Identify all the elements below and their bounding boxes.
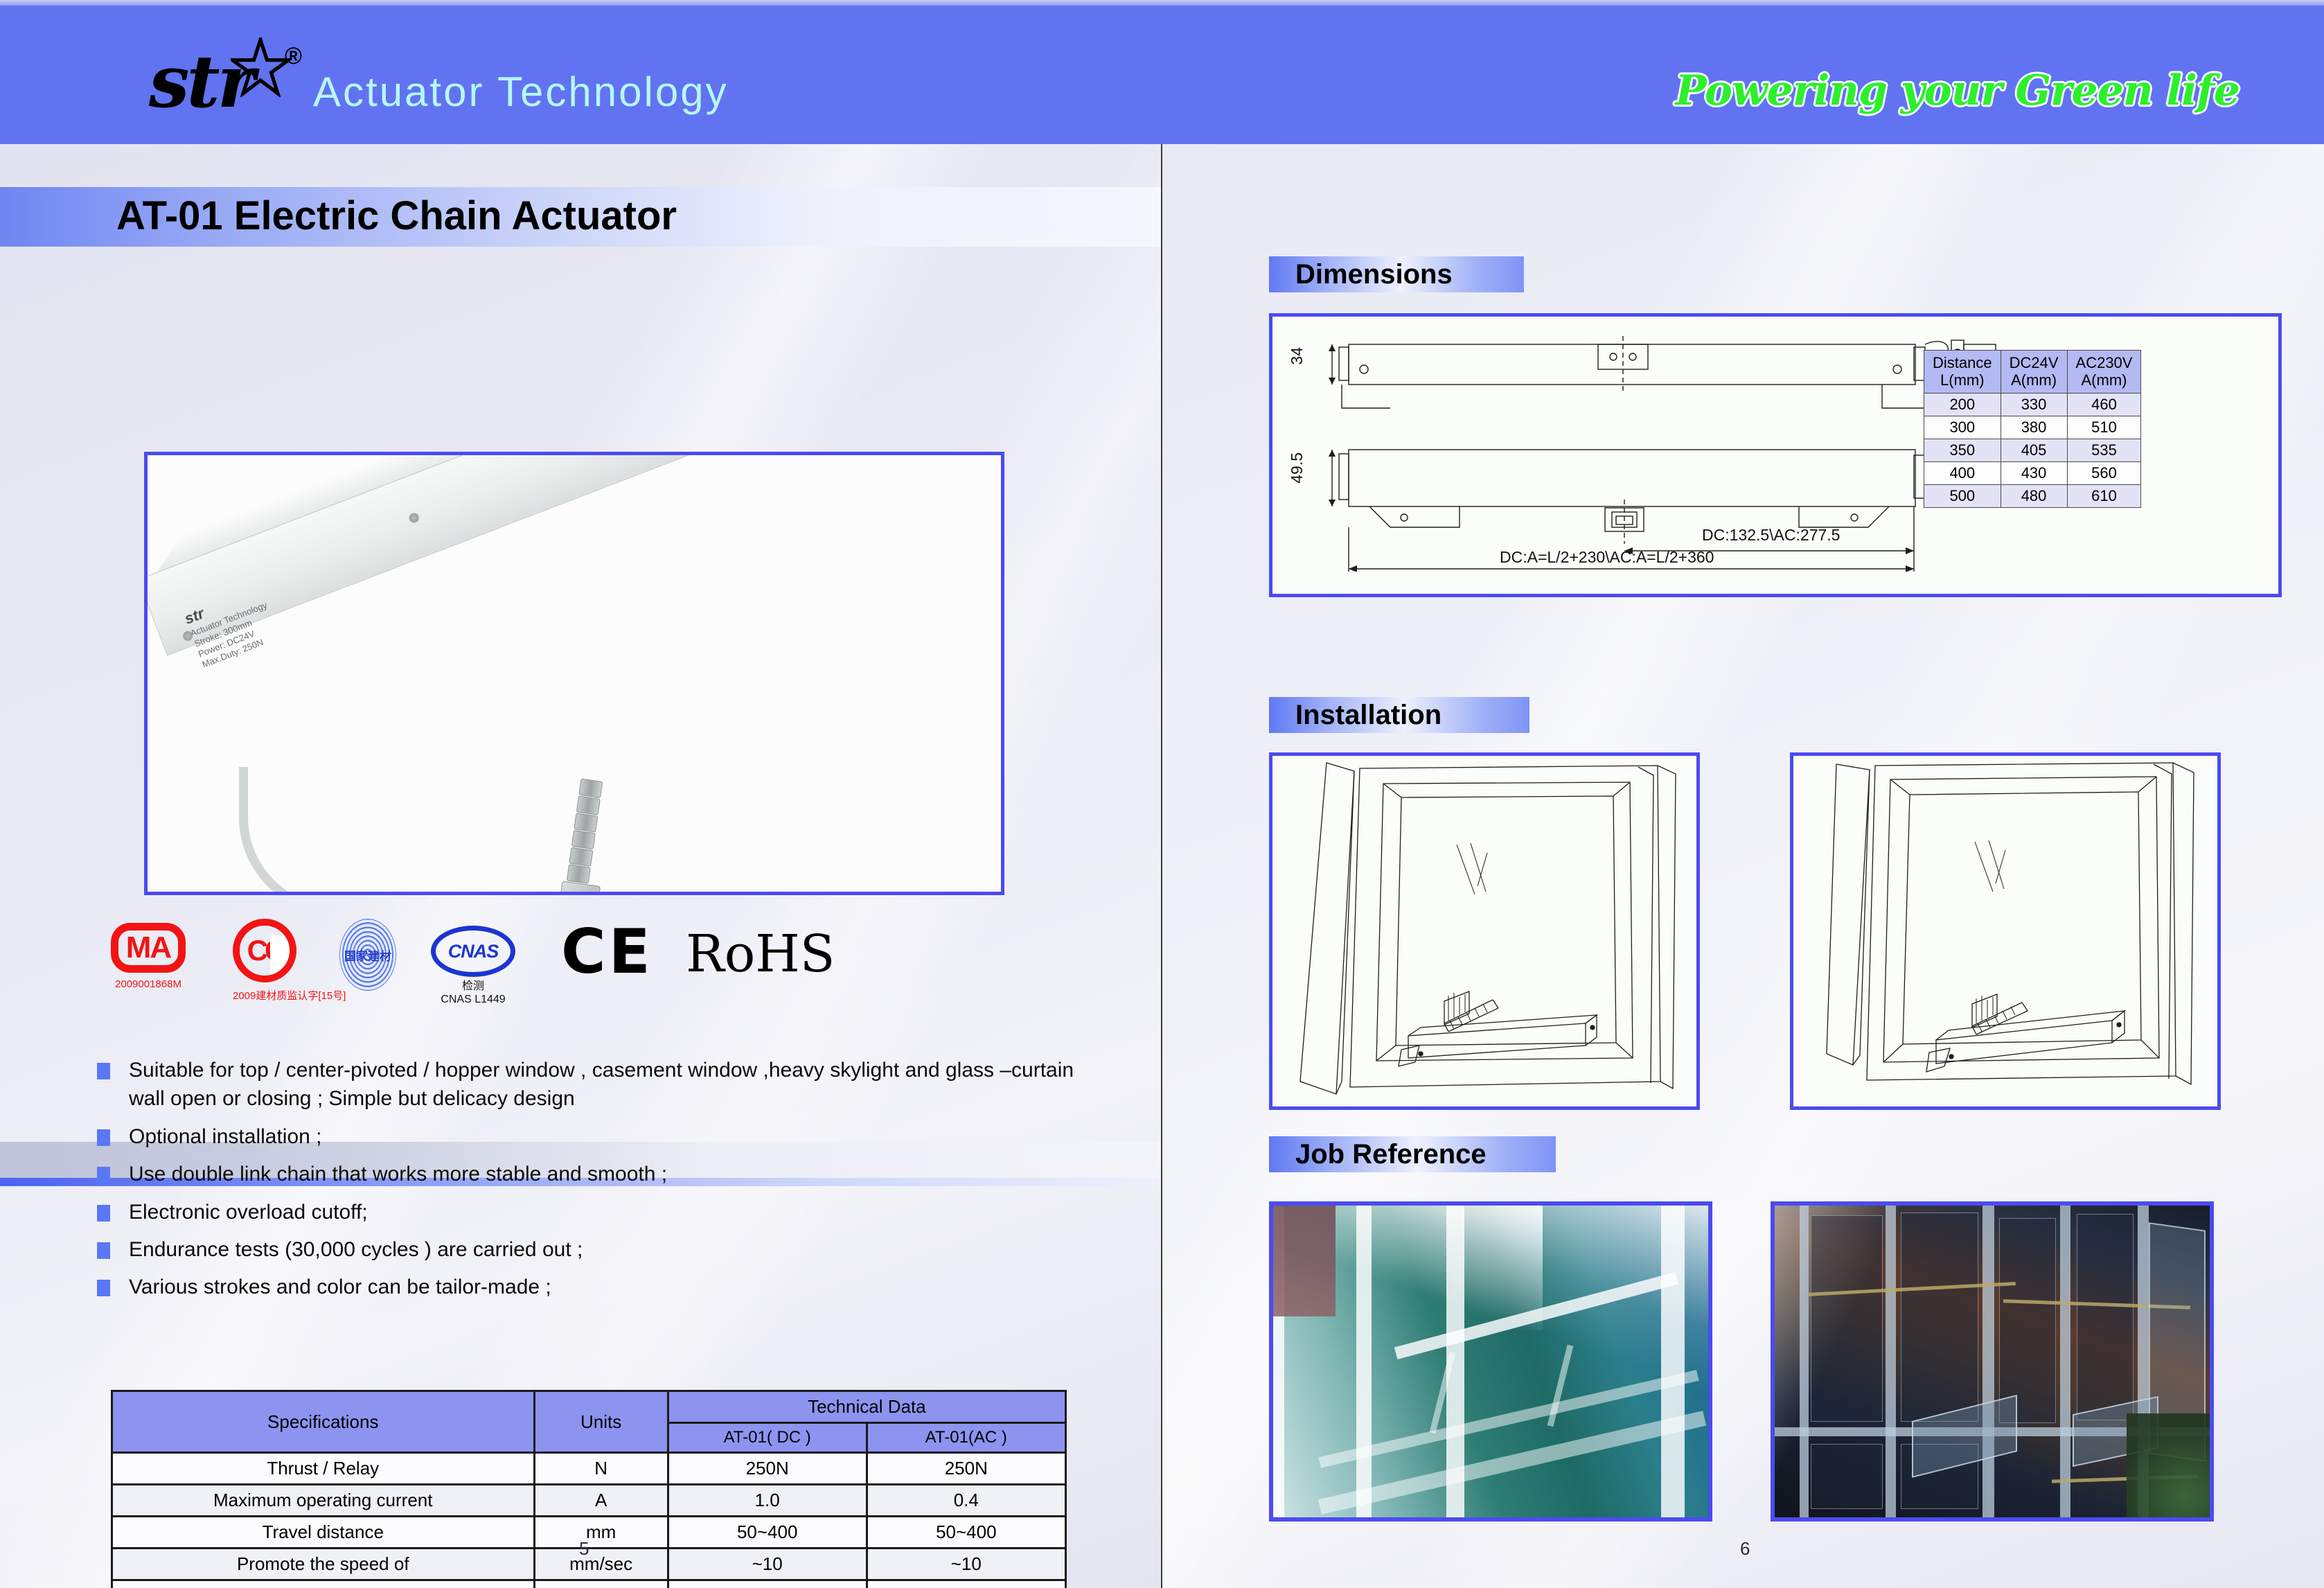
feature-list: Suitable for top / center-pivoted / hopp… xyxy=(97,1056,1081,1311)
page-spine xyxy=(1161,144,1162,1588)
table-row: 400 430 560 xyxy=(1924,461,2141,484)
header-tagline: Powering your Green life xyxy=(1675,67,2239,115)
chain-bracket xyxy=(558,881,601,895)
actuator-front-face: str Actuator Technology Stroke: 300mm Po… xyxy=(144,452,750,655)
column-header-dc24v: DC24V A(mm) xyxy=(2001,351,2067,394)
installation-diagram-left xyxy=(1269,752,1700,1110)
dimension-label-height-bottom: 49.5 xyxy=(1288,452,1306,484)
list-item: Various strokes and color can be tailor-… xyxy=(97,1273,1081,1301)
list-item: Endurance tests (30,000 cycles ) are car… xyxy=(97,1235,1081,1264)
ma-certification-icon: MA 2009001868M xyxy=(111,923,186,990)
registered-mark-icon: ® xyxy=(285,43,302,70)
header-subtitle: Actuator Technology xyxy=(313,68,729,116)
page-number-right: 6 xyxy=(1740,1538,1750,1560)
column-header-technical-data: Technical Data xyxy=(668,1391,1065,1423)
ce-certification-icon: CE xyxy=(561,921,653,982)
table-row: 500 480 610 xyxy=(1924,484,2141,507)
cnas-certification-icon: CNAS 检测 CNAS L1449 xyxy=(431,926,515,1006)
dimension-label-center: DC:132.5\AC:277.5 xyxy=(1702,526,1840,545)
table-row: Thrust / Relay N 250N 250N xyxy=(112,1453,1066,1485)
bullet-icon xyxy=(97,1242,110,1259)
screw-icon xyxy=(408,511,420,524)
rohs-certification-icon: RoHS xyxy=(686,928,835,980)
ccc-certification-icon: CC 2009建材质监认字[15号] xyxy=(233,919,346,1003)
bullet-icon xyxy=(97,1167,110,1183)
page-title: AT-01 Electric Chain Actuator xyxy=(116,193,677,239)
section-header-dimensions: Dimensions xyxy=(1269,256,1524,292)
window-installation-drawing xyxy=(1272,756,1689,1100)
bullet-icon xyxy=(97,1129,110,1146)
page-header: str ® Actuator Technology Powering your … xyxy=(0,0,2324,144)
column-header-specifications: Specifications xyxy=(112,1391,535,1453)
dimension-table: Distance L(mm) DC24V A(mm) AC230V A(mm) … xyxy=(1924,350,2141,508)
open-windows-photo xyxy=(1775,1206,2210,1517)
table-row: 350 405 535 xyxy=(1924,439,2141,461)
window-installation-drawing xyxy=(1793,756,2210,1100)
column-header-distance: Distance L(mm) xyxy=(1924,351,2001,394)
column-header-model-ac: AT-01(AC ) xyxy=(867,1423,1065,1453)
table-row: Operating voltage V DC24V±10% AC220V±10% xyxy=(112,1580,1066,1588)
section-header-installation: Installation xyxy=(1269,697,1529,733)
actuator-illustration: str Actuator Technology Stroke: 300mm Po… xyxy=(144,452,869,767)
certification-row: MA 2009001868M CC 2009建材质监认字[15号] 国家建材 C… xyxy=(111,919,804,1030)
product-nameplate: str Actuator Technology Stroke: 300mm Po… xyxy=(182,574,294,651)
list-item: Optional installation ; xyxy=(97,1122,1081,1151)
product-photo: str Actuator Technology Stroke: 300mm Po… xyxy=(144,452,1004,895)
table-row: 300 380 510 xyxy=(1924,416,2141,439)
list-item: Electronic overload cutoff; xyxy=(97,1198,1081,1226)
dimension-label-height-top: 34 xyxy=(1288,347,1306,365)
power-cable xyxy=(239,767,373,895)
list-item: Use double link chain that works more st… xyxy=(97,1160,1081,1188)
bullet-icon xyxy=(97,1063,110,1079)
job-reference-photo-left xyxy=(1269,1201,1712,1521)
actuator-top-view-drawing xyxy=(1300,326,2007,444)
section-header-job-reference: Job Reference xyxy=(1269,1136,1556,1172)
column-header-units: Units xyxy=(534,1391,668,1453)
cqc-certification-icon: 国家建材 xyxy=(339,919,396,991)
catalog-spread: str ® Actuator Technology Powering your … xyxy=(0,0,2324,1588)
bullet-icon xyxy=(97,1280,110,1296)
curtain-wall-photo xyxy=(1273,1206,1708,1517)
dimensions-drawing: 34 xyxy=(1269,313,2282,597)
table-row: Maximum operating current A 1.0 0.4 xyxy=(112,1485,1066,1517)
bullet-icon xyxy=(97,1205,110,1221)
left-page: AT-01 Electric Chain Actuator str Actuat… xyxy=(0,144,1161,1588)
dimension-label-overall: DC:A=L/2+230\AC:A=L/2+360 xyxy=(1500,548,1714,567)
column-header-ac230v: AC230V A(mm) xyxy=(2067,351,2141,394)
column-header-model-dc: AT-01( DC ) xyxy=(668,1423,867,1453)
page-number-left: 5 xyxy=(579,1538,589,1560)
star-icon xyxy=(231,37,290,97)
list-item: Suitable for top / center-pivoted / hopp… xyxy=(97,1056,1081,1113)
installation-diagram-right xyxy=(1790,752,2221,1110)
table-row: 200 330 460 xyxy=(1924,393,2141,416)
chain-assembly xyxy=(567,779,602,885)
job-reference-photo-right xyxy=(1771,1201,2214,1521)
